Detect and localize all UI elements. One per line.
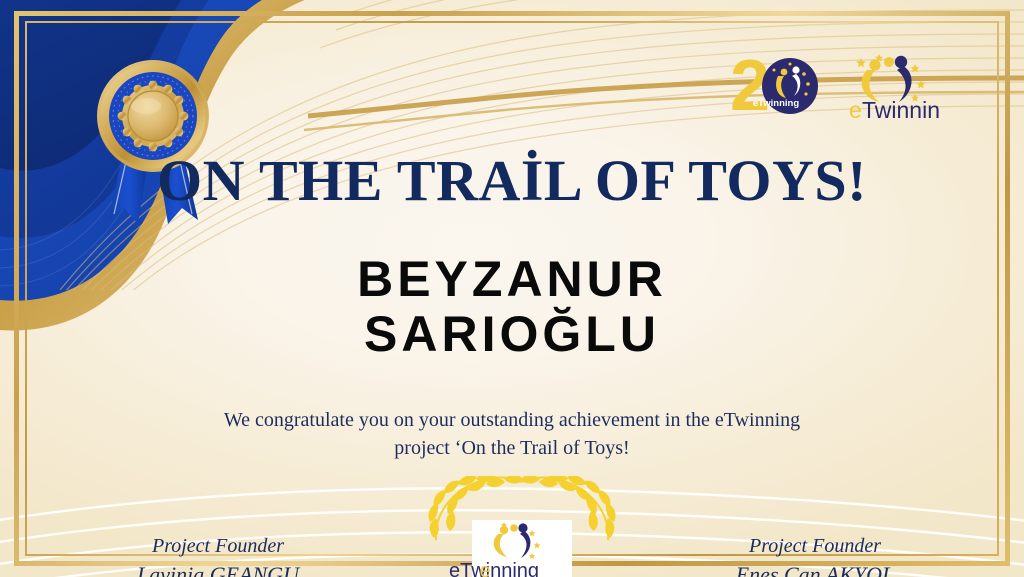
recipient-name: BEYZANUR SARIOĞLU bbox=[0, 252, 1024, 362]
certificate-canvas: 2 eTwinning bbox=[0, 0, 1024, 577]
etwinning-logo: e Twinning bbox=[845, 50, 941, 120]
etwinning-prefix: e bbox=[849, 97, 862, 120]
signature-right-role: Project Founder bbox=[690, 533, 940, 560]
signature-left-name: Lavinia GEANGU bbox=[98, 560, 338, 577]
etwinning-figures bbox=[856, 54, 925, 102]
congratulation-line1: We congratulate you on your outstanding … bbox=[160, 406, 864, 434]
recipient-name-line1: BEYZANUR bbox=[0, 252, 1024, 307]
congratulation-text: We congratulate you on your outstanding … bbox=[160, 406, 864, 463]
anniversary-wordmark: eTwinning bbox=[753, 98, 799, 109]
signature-right: Project Founder Enes Can AKYOL bbox=[690, 533, 940, 577]
recipient-name-line2: SARIOĞLU bbox=[0, 307, 1024, 362]
signature-right-name: Enes Can AKYOL bbox=[690, 560, 940, 577]
wreath-logo-wordmark: eTwinning bbox=[449, 560, 539, 577]
laurel-wreath-svg: eTwinning e bbox=[424, 476, 620, 577]
anniversary-logo: 2 eTwinning bbox=[728, 52, 828, 116]
congratulation-line2: project ‘On the Trail of Toys! bbox=[160, 434, 864, 462]
etwinning-logo-svg: e Twinning bbox=[845, 50, 941, 120]
certificate-title: ON THE TRAİL OF TOYS! bbox=[0, 152, 1024, 210]
etwinning-wordmark: Twinning bbox=[862, 97, 941, 120]
laurel-wreath-badge: eTwinning e bbox=[424, 476, 620, 577]
wreath-logo-prefix: e bbox=[479, 560, 490, 577]
signature-left-role: Project Founder bbox=[98, 533, 338, 560]
signature-left: Project Founder Lavinia GEANGU bbox=[98, 533, 338, 577]
anniversary-logo-svg: 2 eTwinning bbox=[728, 52, 828, 116]
